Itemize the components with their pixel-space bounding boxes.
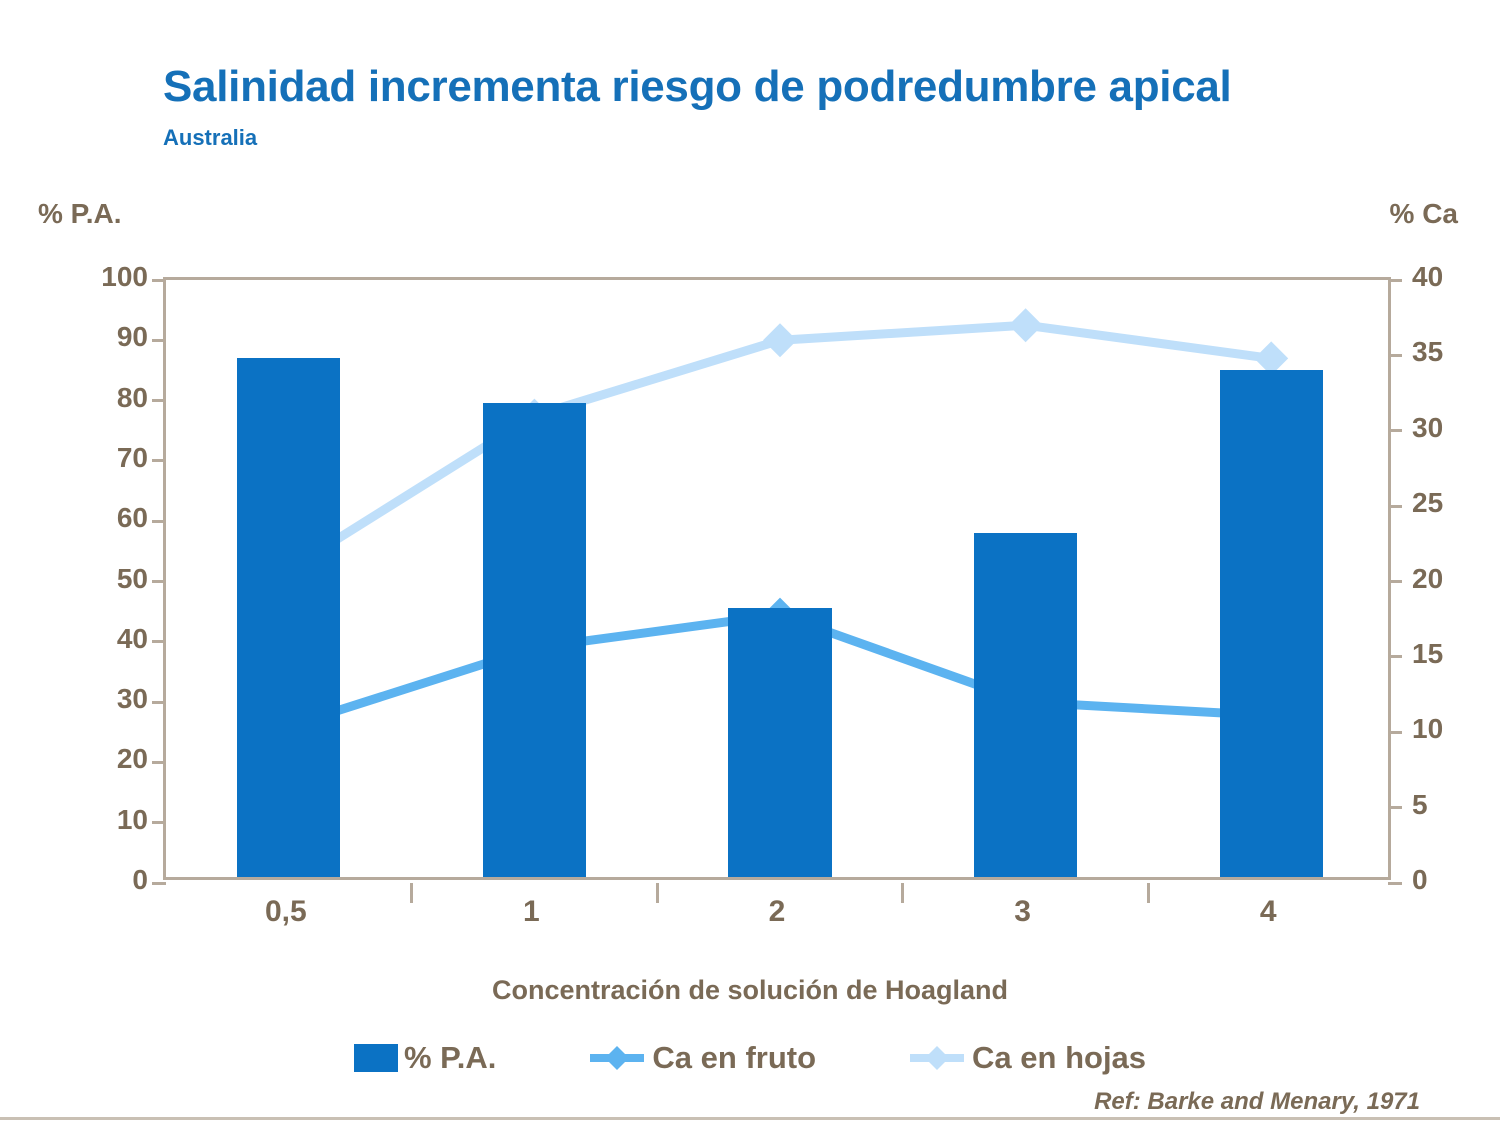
line-series-2	[272, 308, 1288, 586]
x-tick-3	[901, 883, 904, 903]
x-tick-label-0: 0,5	[265, 895, 307, 929]
chart-legend: % P.A.Ca en frutoCa en hojas	[0, 1040, 1500, 1076]
y-tick-left-2	[152, 761, 166, 764]
x-tick-2	[656, 883, 659, 903]
plot-inner	[166, 280, 1388, 877]
y-tick-label-right-8: 40	[1412, 261, 1482, 293]
y-tick-left-4	[152, 640, 166, 643]
y-tick-right-5	[1388, 505, 1402, 508]
y-tick-label-right-7: 35	[1412, 336, 1482, 368]
y-tick-label-left-7: 70	[58, 442, 148, 474]
y-tick-label-left-2: 20	[58, 743, 148, 775]
y-tick-right-2	[1388, 731, 1402, 734]
y-tick-label-left-6: 60	[58, 502, 148, 534]
y-tick-label-left-1: 10	[58, 804, 148, 836]
y-axis-title-left: % P.A.	[38, 198, 122, 230]
x-tick-label-4: 4	[1260, 895, 1277, 929]
legend-item-1[interactable]: Ca en fruto	[588, 1040, 816, 1076]
plot-area	[163, 277, 1391, 880]
y-tick-right-0	[1388, 882, 1402, 885]
y-tick-label-left-8: 80	[58, 382, 148, 414]
y-tick-label-left-3: 30	[58, 683, 148, 715]
y-tick-label-right-3: 15	[1412, 638, 1482, 670]
bar-4	[1220, 370, 1323, 877]
y-tick-label-right-0: 0	[1412, 864, 1482, 896]
legend-bar-swatch-icon	[354, 1044, 398, 1072]
bar-3	[974, 533, 1077, 877]
legend-item-0[interactable]: % P.A.	[354, 1040, 496, 1076]
x-tick-label-3: 3	[1014, 895, 1031, 929]
x-tick-4	[1147, 883, 1150, 903]
x-axis-title: Concentración de solución de Hoagland	[0, 975, 1500, 1006]
y-tick-label-right-1: 5	[1412, 789, 1482, 821]
legend-item-2[interactable]: Ca en hojas	[908, 1040, 1146, 1076]
y-tick-right-3	[1388, 655, 1402, 658]
y-tick-right-8	[1388, 279, 1402, 282]
x-tick-1	[410, 883, 413, 903]
footer-divider	[0, 1117, 1500, 1120]
bar-1	[483, 403, 586, 877]
y-tick-left-5	[152, 580, 166, 583]
y-tick-left-1	[152, 821, 166, 824]
y-tick-label-left-0: 0	[58, 864, 148, 896]
page-title: Salinidad incrementa riesgo de podredumb…	[163, 62, 1231, 112]
y-tick-label-right-2: 10	[1412, 713, 1482, 745]
y-tick-left-0	[152, 882, 166, 885]
y-tick-left-10	[152, 279, 166, 282]
y-tick-left-6	[152, 520, 166, 523]
legend-label: Ca en fruto	[652, 1040, 816, 1076]
y-tick-left-3	[152, 701, 166, 704]
y-tick-label-left-10: 100	[58, 261, 148, 293]
y-tick-left-9	[152, 339, 166, 342]
y-tick-label-right-6: 30	[1412, 412, 1482, 444]
x-tick-label-2: 2	[769, 895, 786, 929]
legend-label: % P.A.	[404, 1040, 496, 1076]
y-tick-label-right-5: 25	[1412, 487, 1482, 519]
data-point-marker-3	[1009, 308, 1043, 342]
legend-label: Ca en hojas	[972, 1040, 1146, 1076]
line-path	[289, 325, 1271, 569]
legend-line-marker-icon	[908, 1045, 966, 1071]
bar-0	[237, 358, 340, 877]
y-tick-right-4	[1388, 580, 1402, 583]
y-tick-right-1	[1388, 806, 1402, 809]
y-tick-right-6	[1388, 429, 1402, 432]
y-tick-left-8	[152, 399, 166, 402]
y-axis-title-right: % Ca	[1390, 198, 1458, 230]
legend-line-marker-icon	[588, 1045, 646, 1071]
y-tick-label-left-5: 50	[58, 563, 148, 595]
data-point-marker-2	[763, 323, 797, 357]
y-tick-left-7	[152, 459, 166, 462]
page-subtitle: Australia	[163, 125, 257, 151]
y-tick-label-right-4: 20	[1412, 563, 1482, 595]
y-tick-label-left-9: 90	[58, 321, 148, 353]
y-tick-right-7	[1388, 354, 1402, 357]
reference-note: Ref: Barke and Menary, 1971	[1094, 1088, 1420, 1116]
slide-canvas: Salinidad incrementa riesgo de podredumb…	[0, 0, 1500, 1126]
bar-2	[728, 608, 831, 877]
x-tick-label-1: 1	[523, 895, 540, 929]
y-tick-label-left-4: 40	[58, 623, 148, 655]
